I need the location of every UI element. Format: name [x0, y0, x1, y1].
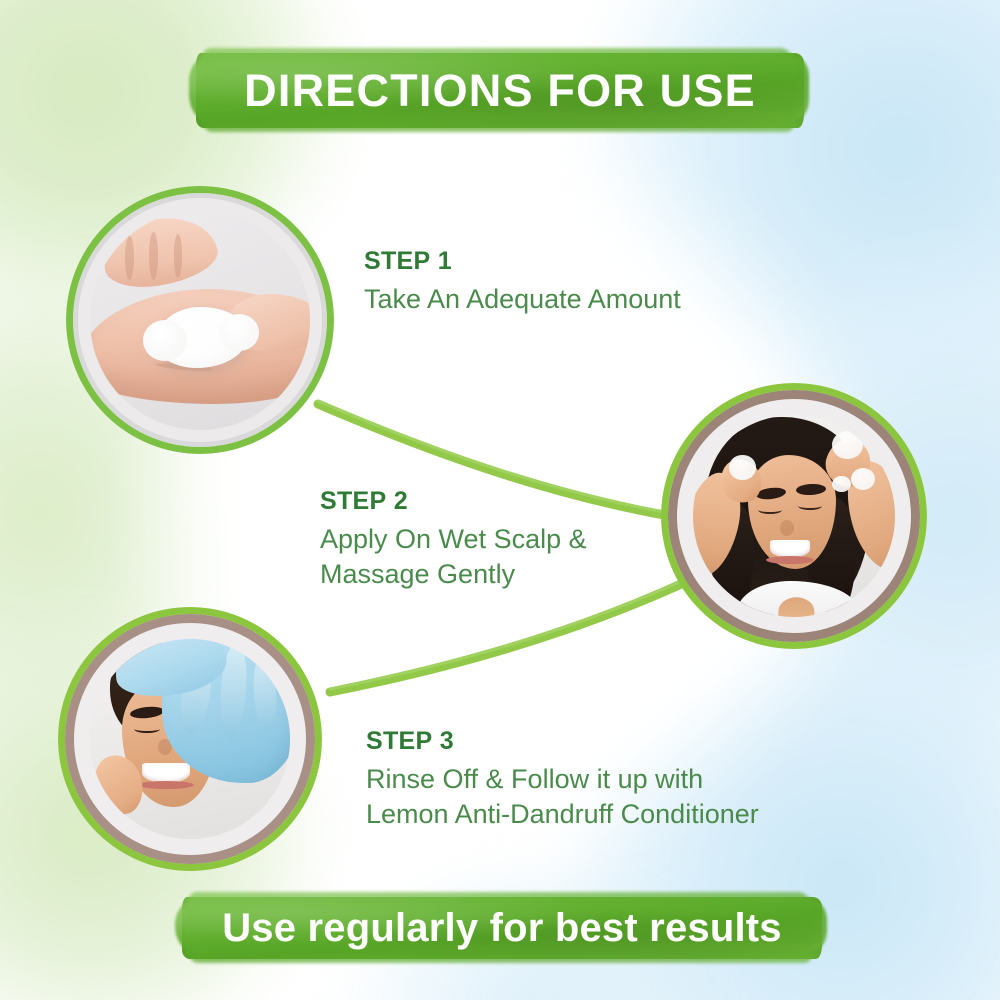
step-2-description-line-2: Massage Gently [320, 559, 515, 589]
step-3-photo-circle [58, 607, 322, 871]
step-1-description: Take An Adequate Amount [364, 282, 681, 317]
step-1-outer-ring [66, 186, 334, 454]
directions-for-use-poster: DIRECTIONS FOR USE STEP 1 [0, 0, 1000, 1000]
step-3-description-line-1: Rinse Off & Follow it up with [366, 764, 703, 794]
step-2-description: Apply On Wet Scalp & Massage Gently [320, 522, 587, 591]
step-3-description-line-2: Lemon Anti-Dandruff Conditioner [366, 799, 759, 829]
step-3-number: 3 [433, 727, 454, 755]
step-1-label-word: STEP [364, 247, 431, 275]
step-1-number: 1 [431, 247, 452, 275]
step-2-label: STEP 2 [320, 487, 587, 516]
header-banner: DIRECTIONS FOR USE [196, 53, 804, 128]
step-2-text-block: STEP 2 Apply On Wet Scalp & Massage Gent… [320, 487, 587, 591]
step-1-text-block: STEP 1 Take An Adequate Amount [364, 247, 681, 317]
header-banner-text: DIRECTIONS FOR USE [244, 65, 756, 117]
step-3-outer-ring [58, 607, 322, 871]
footer-banner: Use regularly for best results [182, 897, 822, 959]
step-1-label: STEP 1 [364, 247, 681, 276]
step-1-photo-circle [66, 186, 334, 454]
step-3-label: STEP 3 [366, 727, 759, 756]
step-3-description: Rinse Off & Follow it up with Lemon Anti… [366, 762, 759, 831]
step-2-label-word: STEP [320, 487, 387, 515]
step-1-description-line-1: Take An Adequate Amount [364, 284, 681, 314]
step-2-outer-ring [661, 383, 927, 649]
footer-banner-text: Use regularly for best results [222, 906, 782, 951]
step-3-label-word: STEP [366, 727, 433, 755]
step-2-description-line-1: Apply On Wet Scalp & [320, 524, 587, 554]
step-2-number: 2 [387, 487, 408, 515]
step-3-text-block: STEP 3 Rinse Off & Follow it up with Lem… [366, 727, 759, 831]
step-2-photo-circle [661, 383, 927, 649]
